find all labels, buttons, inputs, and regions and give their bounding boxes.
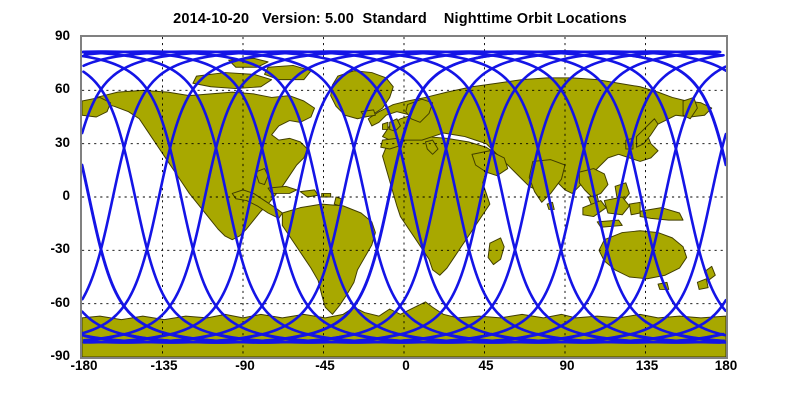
x-tick-label-m135: -135 bbox=[134, 358, 194, 373]
x-tick-label-m90: -90 bbox=[215, 358, 275, 373]
land-sulawesi bbox=[629, 202, 640, 214]
x-tick-label-45: 45 bbox=[456, 358, 516, 373]
world-map-svg bbox=[82, 37, 726, 357]
x-tick-label-135: 135 bbox=[617, 358, 677, 373]
land-ireland bbox=[383, 122, 388, 129]
y-tick-label-m60: -60 bbox=[26, 295, 70, 310]
map-plot-area bbox=[80, 35, 728, 359]
figure-title: 2014-10-20 Version: 5.00 Standard Nightt… bbox=[0, 11, 800, 27]
x-tick-label-0: 0 bbox=[376, 358, 436, 373]
x-tick-label-90: 90 bbox=[537, 358, 597, 373]
y-tick-label-30: 30 bbox=[26, 135, 70, 150]
y-tick-label-m30: -30 bbox=[26, 241, 70, 256]
orbit-map-figure: 2014-10-20 Version: 5.00 Standard Nightt… bbox=[0, 0, 800, 400]
y-tick-label-90: 90 bbox=[26, 28, 70, 43]
x-tick-label-m180: -180 bbox=[54, 358, 114, 373]
x-tick-label-180: 180 bbox=[696, 358, 756, 373]
x-tick-label-m45: -45 bbox=[295, 358, 355, 373]
y-tick-label-0: 0 bbox=[26, 188, 70, 203]
y-tick-label-60: 60 bbox=[26, 81, 70, 96]
